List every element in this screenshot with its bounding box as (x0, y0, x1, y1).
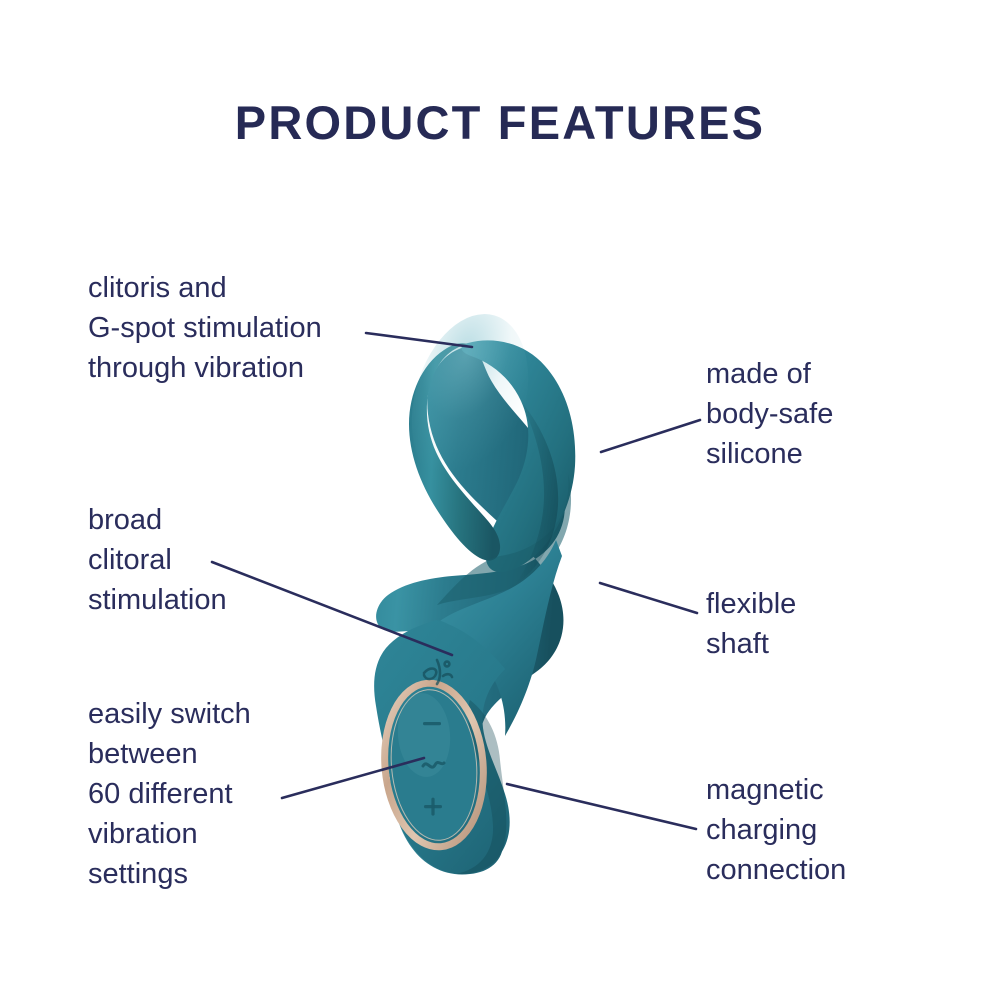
decrease-intensity-button[interactable] (423, 722, 441, 725)
feature-label-sixty-vibration-settings: easily switch between 60 different vibra… (88, 694, 368, 894)
plus-icon-vertical (431, 798, 434, 816)
leader-line-body-safe-silicone (601, 420, 700, 452)
feature-label-clitoris-g-spot-stimulation: clitoris and G-spot stimulation through … (88, 268, 388, 388)
feature-label-magnetic-charging-connection: magnetic charging connection (706, 770, 976, 890)
minus-icon (423, 722, 441, 725)
leader-line-flexible-shaft (600, 583, 697, 613)
product-features-infographic: PRODUCT FEATURES (0, 0, 1000, 1000)
feature-label-broad-clitoral-stimulation: broad clitoral stimulation (88, 500, 348, 620)
feature-label-body-safe-silicone: made of body-safe silicone (706, 354, 966, 474)
feature-label-flexible-shaft: flexible shaft (706, 584, 966, 664)
leader-line-magnetic-charging-connection (507, 784, 696, 829)
